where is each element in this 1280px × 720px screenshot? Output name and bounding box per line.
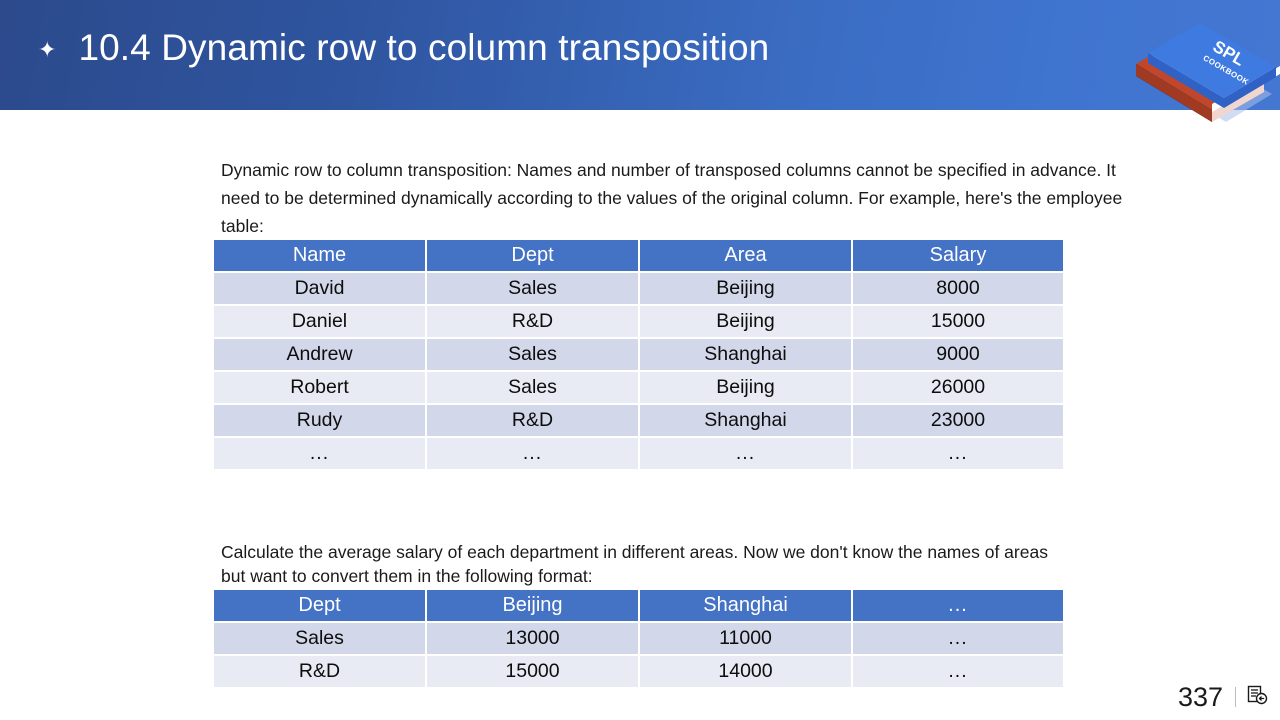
table-row: Sales 13000 11000 ... <box>214 623 1063 654</box>
intro-paragraph: Dynamic row to column transposition: Nam… <box>221 156 1151 240</box>
column-header-name: Name <box>214 240 425 271</box>
header-title-group: ✦ 10.4 Dynamic row to column transpositi… <box>38 27 769 69</box>
cell-area: ... <box>640 438 851 469</box>
cell-dept: Sales <box>427 372 638 403</box>
cell-area: Beijing <box>640 273 851 304</box>
table-row: Rudy R&D Shanghai 23000 <box>214 405 1063 436</box>
table-header-row: Dept Beijing Shanghai ... <box>214 590 1063 621</box>
cell-beijing: 13000 <box>427 623 638 654</box>
cell-shanghai: 14000 <box>640 656 851 687</box>
cell-name: Andrew <box>214 339 425 370</box>
table-row: David Sales Beijing 8000 <box>214 273 1063 304</box>
cell-dept: Sales <box>427 339 638 370</box>
cell-area: Beijing <box>640 306 851 337</box>
table-row: Daniel R&D Beijing 15000 <box>214 306 1063 337</box>
cell-salary: ... <box>853 438 1063 469</box>
column-header-area: Area <box>640 240 851 271</box>
result-table: Dept Beijing Shanghai ... Sales 13000 11… <box>212 588 1065 689</box>
four-pointed-star-icon: ✦ <box>38 39 56 61</box>
cell-name: Daniel <box>214 306 425 337</box>
slide-footer: 337 <box>1178 680 1268 714</box>
table-header-row: Name Dept Area Salary <box>214 240 1063 271</box>
spl-cookbook-book-logo: SPL COOKBOOK <box>1122 12 1280 124</box>
cell-name: ... <box>214 438 425 469</box>
cell-more: ... <box>853 623 1063 654</box>
cell-dept: Sales <box>214 623 425 654</box>
document-back-icon[interactable] <box>1246 684 1268 711</box>
cell-dept: R&D <box>427 405 638 436</box>
cell-shanghai: 11000 <box>640 623 851 654</box>
cell-beijing: 15000 <box>427 656 638 687</box>
cell-area: Shanghai <box>640 405 851 436</box>
task-paragraph: Calculate the average salary of each dep… <box>221 540 1051 588</box>
column-header-beijing: Beijing <box>427 590 638 621</box>
footer-divider <box>1235 687 1236 707</box>
cell-area: Shanghai <box>640 339 851 370</box>
page-number: 337 <box>1178 684 1223 711</box>
column-header-dept: Dept <box>214 590 425 621</box>
table-row: Robert Sales Beijing 26000 <box>214 372 1063 403</box>
cell-salary: 23000 <box>853 405 1063 436</box>
slide-header-banner: ✦ 10.4 Dynamic row to column transpositi… <box>0 0 1280 110</box>
cell-salary: 15000 <box>853 306 1063 337</box>
table-row: R&D 15000 14000 ... <box>214 656 1063 687</box>
cell-more: ... <box>853 656 1063 687</box>
slide-body: Dynamic row to column transposition: Nam… <box>0 110 1280 720</box>
cell-name: Robert <box>214 372 425 403</box>
column-header-more: ... <box>853 590 1063 621</box>
column-header-dept: Dept <box>427 240 638 271</box>
cell-dept: Sales <box>427 273 638 304</box>
cell-dept: ... <box>427 438 638 469</box>
column-header-shanghai: Shanghai <box>640 590 851 621</box>
table-row: Andrew Sales Shanghai 9000 <box>214 339 1063 370</box>
page-title: 10.4 Dynamic row to column transposition <box>78 27 769 69</box>
cell-dept: R&D <box>427 306 638 337</box>
cell-salary: 9000 <box>853 339 1063 370</box>
cell-salary: 26000 <box>853 372 1063 403</box>
table-row: ... ... ... ... <box>214 438 1063 469</box>
column-header-salary: Salary <box>853 240 1063 271</box>
cell-area: Beijing <box>640 372 851 403</box>
cell-salary: 8000 <box>853 273 1063 304</box>
cell-dept: R&D <box>214 656 425 687</box>
cell-name: Rudy <box>214 405 425 436</box>
cell-name: David <box>214 273 425 304</box>
employee-table: Name Dept Area Salary David Sales Beijin… <box>212 238 1065 471</box>
